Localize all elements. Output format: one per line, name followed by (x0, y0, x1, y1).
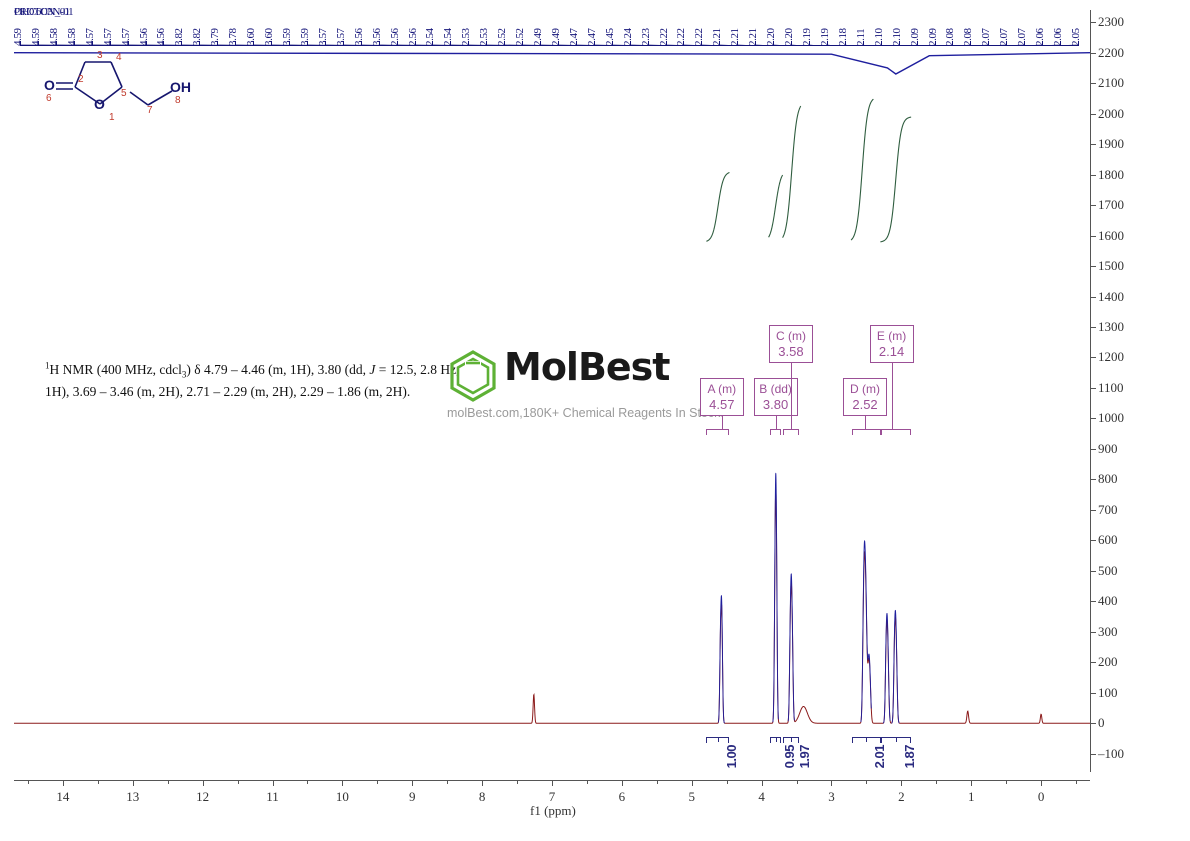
x-axis-tick (692, 780, 693, 786)
y-axis-tick (1090, 388, 1096, 389)
x-axis-minor-tick (657, 780, 658, 784)
x-axis-tick-label: 11 (266, 789, 279, 805)
y-axis-tick (1090, 571, 1096, 572)
x-axis-tick (762, 780, 763, 786)
multiplet-stem (776, 416, 777, 429)
y-axis-tick-label: 400 (1098, 593, 1118, 609)
multiplet-stem (892, 363, 893, 429)
x-axis-tick (831, 780, 832, 786)
y-axis-tick-label: 1600 (1098, 228, 1124, 244)
x-axis-tick (412, 780, 413, 786)
y-axis-tick-label: 0 (1098, 715, 1105, 731)
integral-value-label: 2.01 (872, 745, 887, 768)
y-axis-tick (1090, 205, 1096, 206)
y-axis-tick (1090, 236, 1096, 237)
y-axis-tick-label: 2300 (1098, 14, 1124, 30)
y-axis: –100010020030040050060070080090010001100… (1090, 10, 1190, 772)
y-axis-tick-label: 700 (1098, 502, 1118, 518)
y-axis-tick-label: 1700 (1098, 197, 1124, 213)
x-axis-minor-tick (1006, 780, 1007, 784)
y-axis-tick (1090, 144, 1096, 145)
x-axis-minor-tick (98, 780, 99, 784)
nmr-spectrum-page: PROTON_01 OHC6C3N-01 4.594.594.584.584.5… (0, 0, 1190, 841)
x-axis-tick-label: 5 (688, 789, 695, 805)
integral-center-tick (896, 737, 897, 742)
x-axis-minor-tick (936, 780, 937, 784)
multiplet-shift-value: 3.58 (770, 344, 812, 360)
y-axis-tick-label: 100 (1098, 685, 1118, 701)
y-axis-tick-label: 1500 (1098, 258, 1124, 274)
x-axis-minor-tick (307, 780, 308, 784)
x-axis-tick-label: 9 (409, 789, 416, 805)
multiplet-shift-value: 2.52 (844, 397, 886, 413)
y-axis-tick (1090, 327, 1096, 328)
x-axis-minor-tick (1076, 780, 1077, 784)
multiplet-stem (722, 416, 723, 429)
x-axis-tick-label: 10 (336, 789, 349, 805)
y-axis-tick-label: 600 (1098, 532, 1118, 548)
x-axis-tick (203, 780, 204, 786)
x-axis-minor-tick (866, 780, 867, 784)
y-axis-tick-label: 1400 (1098, 289, 1124, 305)
y-axis-line (1090, 10, 1091, 772)
multiplet-label: C (m) (770, 329, 812, 344)
y-axis-tick-label: 500 (1098, 563, 1118, 579)
y-axis-tick (1090, 266, 1096, 267)
multiplet-label: D (m) (844, 382, 886, 397)
y-axis-tick (1090, 601, 1096, 602)
y-axis-tick-label: 900 (1098, 441, 1118, 457)
x-axis-tick (901, 780, 902, 786)
y-axis-tick (1090, 175, 1096, 176)
y-axis-tick (1090, 357, 1096, 358)
x-axis-tick (342, 780, 343, 786)
integral-value-label: 0.95 (782, 745, 797, 768)
multiplet-label: A (m) (701, 382, 743, 397)
x-axis-tick-label: 6 (619, 789, 626, 805)
y-axis-tick (1090, 662, 1096, 663)
multiplet-range-bracket (783, 429, 799, 435)
x-axis-tick (622, 780, 623, 786)
x-axis-minor-tick (797, 780, 798, 784)
multiplet-shift-value: 2.14 (871, 344, 913, 360)
y-axis-tick-label: 800 (1098, 471, 1118, 487)
y-axis-tick (1090, 479, 1096, 480)
y-axis-tick (1090, 632, 1096, 633)
y-axis-tick-label: 1200 (1098, 349, 1124, 365)
integral-value-label: 1.00 (724, 745, 739, 768)
y-axis-tick-label: 1100 (1098, 380, 1124, 396)
x-axis-tick-label: 12 (196, 789, 209, 805)
y-axis-tick (1090, 693, 1096, 694)
x-axis-tick-label: 14 (56, 789, 69, 805)
y-axis-tick (1090, 418, 1096, 419)
multiplet-range-bracket (881, 429, 911, 435)
integral-center-tick (866, 737, 867, 742)
y-axis-tick-label: 1300 (1098, 319, 1124, 335)
x-axis-minor-tick (587, 780, 588, 784)
y-axis-tick-label: 1900 (1098, 136, 1124, 152)
multiplet-range-bracket (852, 429, 881, 435)
x-axis-minor-tick (168, 780, 169, 784)
y-axis-tick (1090, 83, 1096, 84)
y-axis-tick-label: –100 (1098, 746, 1124, 762)
multiplet-shift-value: 4.57 (701, 397, 743, 413)
y-axis-tick-label: 200 (1098, 654, 1118, 670)
multiplet-box-a: A (m)4.57 (700, 378, 744, 416)
integral-center-tick (776, 737, 777, 742)
y-axis-tick (1090, 754, 1096, 755)
multiplet-box-d: D (m)2.52 (843, 378, 887, 416)
multiplet-annotations: A (m)4.57B (dd)3.80C (m)3.58D (m)2.52E (… (0, 0, 1190, 841)
x-axis-minor-tick (28, 780, 29, 784)
x-axis-tick-label: 8 (479, 789, 486, 805)
integral-center-tick (791, 737, 792, 742)
y-axis-tick (1090, 510, 1096, 511)
x-axis-tick-label: 4 (758, 789, 765, 805)
x-axis-minor-tick (447, 780, 448, 784)
x-axis-tick-label: 3 (828, 789, 835, 805)
y-axis-tick (1090, 449, 1096, 450)
x-axis-tick (63, 780, 64, 786)
y-axis-tick (1090, 114, 1096, 115)
y-axis-tick-label: 2100 (1098, 75, 1124, 91)
x-axis-tick (552, 780, 553, 786)
y-axis-tick-label: 300 (1098, 624, 1118, 640)
multiplet-box-c: C (m)3.58 (769, 325, 813, 363)
y-axis-tick-label: 1800 (1098, 167, 1124, 183)
y-axis-tick (1090, 297, 1096, 298)
x-axis-tick-label: 2 (898, 789, 905, 805)
y-axis-tick (1090, 540, 1096, 541)
x-axis-tick (133, 780, 134, 786)
x-axis-tick-label: 0 (1038, 789, 1045, 805)
x-axis-tick (273, 780, 274, 786)
x-axis-tick (1041, 780, 1042, 786)
y-axis-tick-label: 2200 (1098, 45, 1124, 61)
x-axis-tick (482, 780, 483, 786)
multiplet-box-e: E (m)2.14 (870, 325, 914, 363)
x-axis-tick-label: 1 (968, 789, 975, 805)
multiplet-label: E (m) (871, 329, 913, 344)
x-axis-tick-label: 13 (126, 789, 139, 805)
x-axis-minor-tick (377, 780, 378, 784)
x-axis-tick (971, 780, 972, 786)
y-axis-tick (1090, 723, 1096, 724)
multiplet-range-bracket (770, 429, 781, 435)
y-axis-tick (1090, 53, 1096, 54)
x-axis-minor-tick (517, 780, 518, 784)
integral-center-tick (718, 737, 719, 742)
x-axis-minor-tick (238, 780, 239, 784)
y-axis-tick (1090, 22, 1096, 23)
x-axis-title: f1 (ppm) (530, 803, 576, 819)
x-axis-minor-tick (727, 780, 728, 784)
integral-value-label: 1.97 (797, 745, 812, 768)
integral-value-label: 1.87 (902, 745, 917, 768)
multiplet-stem (791, 363, 792, 429)
multiplet-stem (865, 416, 866, 429)
multiplet-range-bracket (706, 429, 729, 435)
y-axis-tick-label: 1000 (1098, 410, 1124, 426)
y-axis-tick-label: 2000 (1098, 106, 1124, 122)
